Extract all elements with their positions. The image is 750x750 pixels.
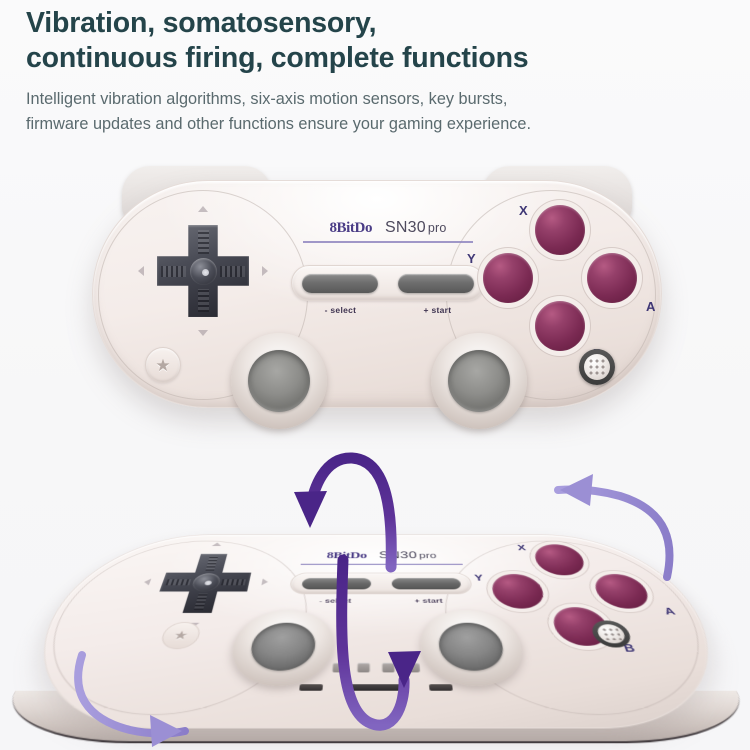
home-button-tilted[interactable]: ★ — [158, 622, 203, 649]
select-button-label: - select — [325, 305, 357, 315]
face-button-cluster: X Y A B — [475, 203, 645, 353]
button-a-label: A — [646, 299, 655, 314]
capture-button[interactable] — [579, 349, 615, 385]
dpad-arrow-down-icon — [198, 330, 208, 336]
capture-icon-tilted — [595, 624, 628, 643]
led-indicator-4 — [407, 663, 420, 673]
model-number: SN30 — [385, 219, 426, 236]
start-button-label-tilted: + start — [414, 597, 443, 604]
vent-left — [299, 684, 323, 691]
right-analog-stick[interactable] — [431, 333, 527, 429]
dpad-center-hub[interactable] — [190, 258, 217, 285]
start-button-label: + start — [424, 305, 452, 315]
model-suffix: pro — [428, 221, 447, 235]
dpad-groove-right — [220, 266, 246, 276]
star-icon: ★ — [155, 357, 170, 374]
button-a-tilted[interactable] — [590, 574, 654, 609]
product-feature-page: Vibration, somatosensory, continuous fir… — [0, 0, 750, 750]
controller-body: 8BitDo SN30pro - select + start — [92, 180, 662, 408]
button-x[interactable] — [535, 205, 585, 255]
dpad-arrow-right-icon — [262, 266, 268, 276]
dpad-groove-left — [161, 266, 187, 276]
brand-underline — [303, 241, 473, 243]
home-button[interactable]: ★ — [145, 347, 181, 383]
left-analog-stick[interactable] — [231, 333, 327, 429]
model-suffix-tilted: pro — [419, 551, 437, 560]
start-button[interactable] — [398, 274, 474, 293]
select-button[interactable] — [302, 274, 378, 293]
dpad-arrow-right-icon-tilted — [261, 579, 268, 586]
button-y-tilted[interactable] — [489, 574, 547, 609]
dpad-arrow-down-icon-tilted — [188, 623, 200, 628]
vent-right — [429, 684, 453, 691]
star-icon-tilted: ★ — [172, 629, 190, 641]
dpad-cross-tilted[interactable] — [152, 554, 256, 613]
dpad-groove-up — [198, 230, 208, 254]
brand-name-tilted: 8BitDo — [326, 551, 367, 561]
dpad-groove-up-tilted — [205, 557, 218, 571]
led-indicator-strip — [332, 663, 419, 673]
button-x-label-tilted: X — [516, 543, 526, 552]
led-indicator-1 — [332, 663, 345, 673]
face-button-cluster-tilted: X Y A B — [476, 543, 680, 646]
button-b[interactable] — [535, 301, 585, 351]
button-y[interactable] — [483, 253, 533, 303]
brand-logo-block: 8BitDo SN30pro — [295, 219, 481, 243]
brand-underline-tilted — [301, 564, 463, 565]
dpad-groove-right-tilted — [221, 579, 247, 585]
brand-name: 8BitDo — [329, 220, 372, 237]
brand-logo-block-tilted: 8BitDo SN30pro — [293, 550, 470, 564]
dpad-groove-down — [198, 289, 208, 313]
product-stage: 8BitDo SN30pro - select + start — [0, 0, 750, 750]
usb-c-port — [346, 684, 407, 691]
model-name: SN30pro — [385, 219, 447, 237]
dpad[interactable] — [151, 219, 255, 323]
dpad-center-hub-tilted[interactable] — [190, 573, 222, 591]
dpad-arrow-up-icon — [198, 206, 208, 212]
left-analog-stick-tilted[interactable] — [225, 610, 336, 686]
button-x-label: X — [519, 203, 528, 218]
menu-button-housing-tilted — [289, 573, 474, 595]
select-button-label-tilted: - select — [319, 597, 352, 604]
menu-button-labels-tilted: - select + start — [287, 597, 475, 604]
menu-button-housing — [291, 265, 485, 301]
button-x-tilted[interactable] — [531, 544, 588, 575]
button-b-tilted[interactable] — [549, 607, 614, 646]
controller-front-view: 8BitDo SN30pro - select + start — [92, 172, 662, 412]
dpad-cross[interactable] — [157, 225, 249, 317]
menu-button-labels: - select + start — [291, 305, 485, 315]
model-number-tilted: SN30 — [379, 550, 418, 560]
dpad-arrow-left-icon — [138, 266, 144, 276]
dpad-groove-down-tilted — [193, 593, 208, 609]
button-b-label-tilted: B — [622, 642, 637, 654]
led-indicator-3 — [382, 663, 395, 673]
dpad-arrow-up-icon-tilted — [212, 543, 222, 547]
button-a[interactable] — [587, 253, 637, 303]
button-y-label-tilted: Y — [474, 573, 484, 583]
dpad-groove-left-tilted — [165, 579, 191, 585]
capture-icon — [584, 354, 610, 380]
button-a-label-tilted: A — [662, 606, 677, 617]
model-name-tilted: SN30pro — [379, 550, 437, 561]
right-analog-stick-tilted[interactable] — [418, 610, 530, 686]
start-button-tilted[interactable] — [391, 578, 461, 589]
select-button-tilted[interactable] — [301, 578, 371, 589]
controller-perspective-view: 8BitDo SN30pro - select + start — [29, 534, 724, 664]
led-indicator-2 — [357, 663, 370, 673]
capture-button-tilted[interactable] — [588, 620, 634, 647]
controller-body-tilted: 8BitDo SN30pro - select + start — [0, 534, 750, 728]
button-y-label: Y — [467, 251, 476, 266]
